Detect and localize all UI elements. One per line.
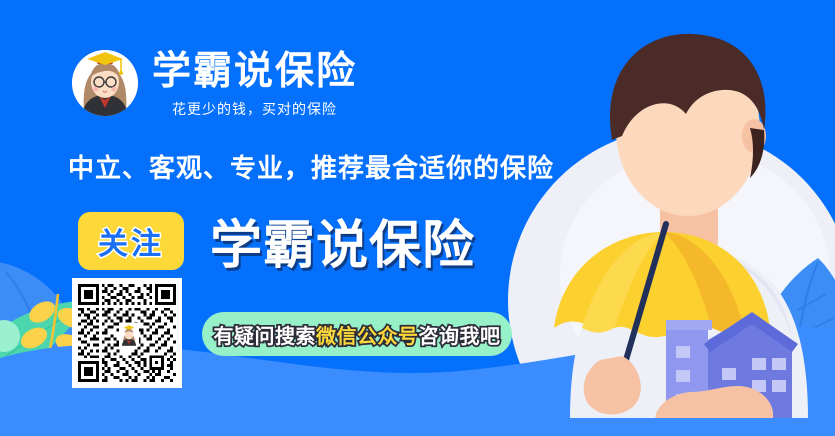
graduate-girl-avatar-icon — [72, 50, 138, 116]
brand-tagline: 花更少的钱，买对的保险 — [152, 100, 357, 118]
follow-badge-label: 关注 — [98, 219, 164, 263]
cta-prefix: 有疑问搜索 — [214, 326, 317, 348]
man-illustration — [540, 18, 835, 418]
brand-name: 学霸说保险 — [152, 50, 357, 94]
brand-logo-row: 学霸说保险 花更少的钱，买对的保险 — [72, 50, 357, 118]
slogan-text: 中立、客观、专业，推荐最合适你的保险 — [68, 148, 554, 185]
qr-center-avatar-icon — [119, 323, 139, 347]
cta-search-pill[interactable]: 有疑问搜索微信公众号咨询我吧 — [202, 312, 512, 356]
brand-text-block: 学霸说保险 花更少的钱，买对的保险 — [152, 50, 357, 118]
follow-row: 关注 学霸说保险 — [78, 203, 475, 278]
cta-highlight: 微信公众号 — [316, 326, 419, 348]
follow-badge[interactable]: 关注 — [78, 212, 184, 270]
cta-suffix: 咨询我吧 — [419, 326, 501, 348]
cta-text: 有疑问搜索微信公众号咨询我吧 — [214, 320, 501, 349]
promo-banner: 学霸说保险 花更少的钱，买对的保险 中立、客观、专业，推荐最合适你的保险 关注 … — [0, 0, 835, 436]
wechat-qr-code[interactable] — [72, 278, 182, 388]
headline-title: 学霸说保险 — [210, 203, 475, 278]
